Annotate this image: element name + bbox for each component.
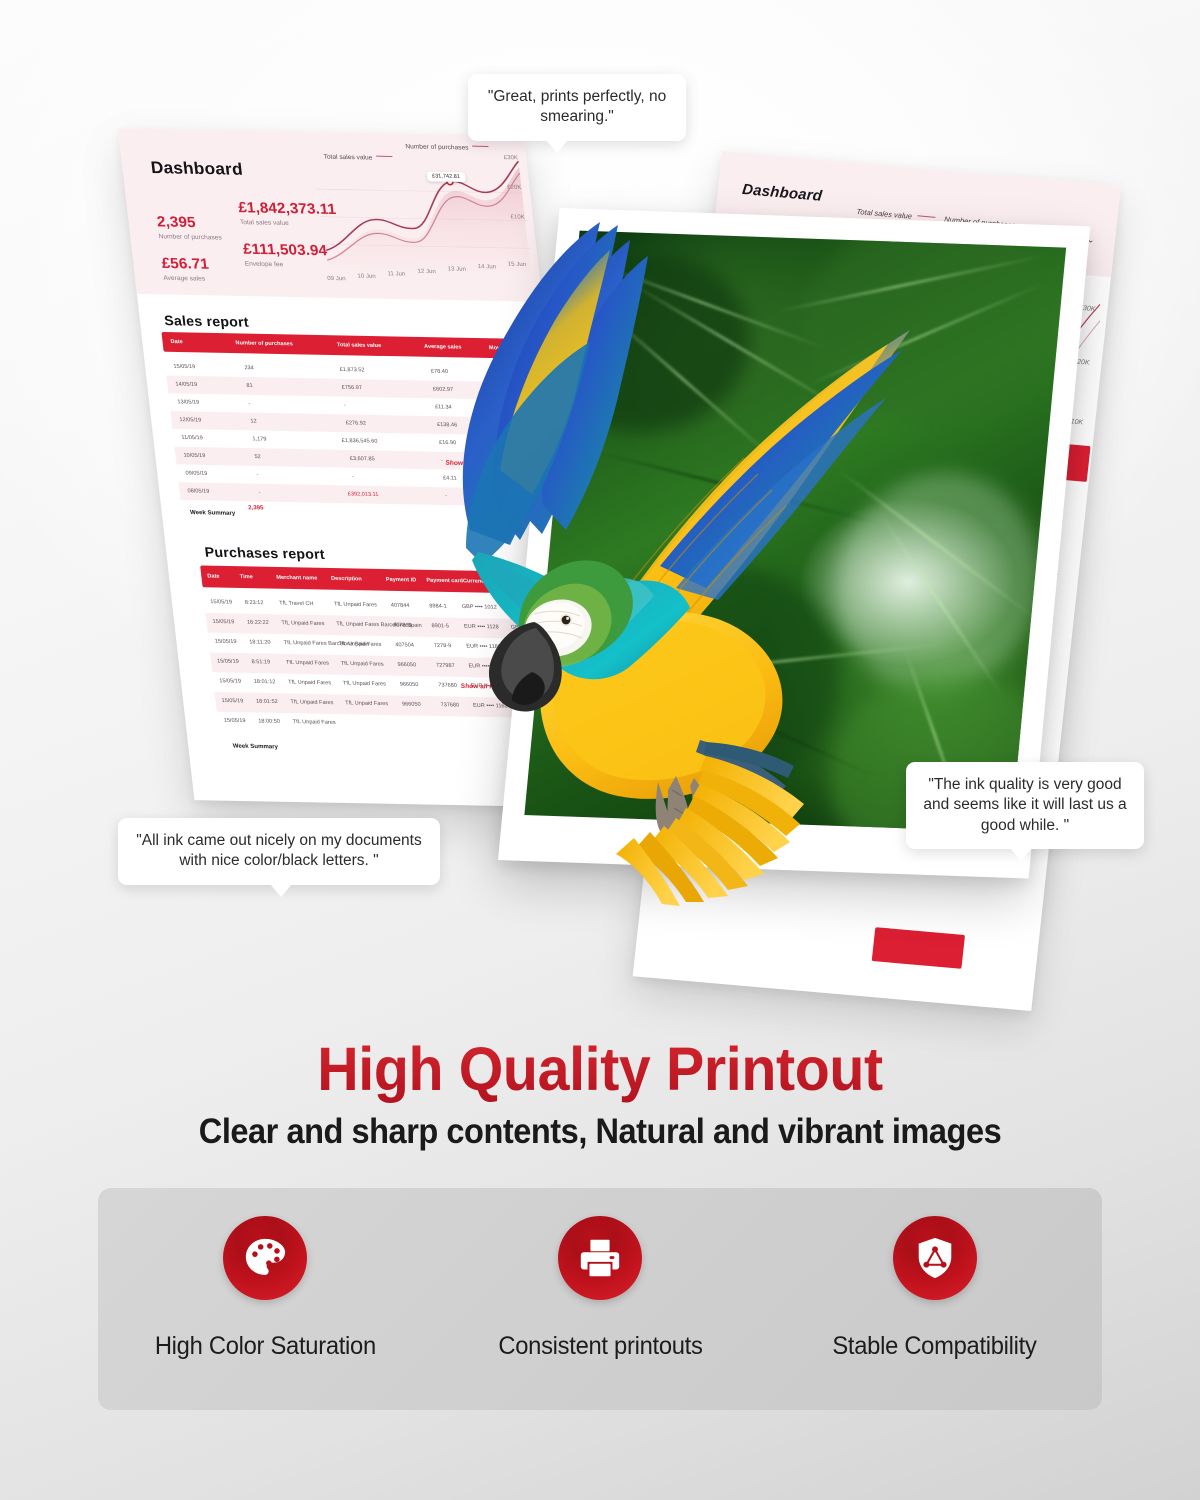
testimonial-text: "The ink quality is very good and seems …	[923, 776, 1126, 834]
feature-stable-compatibility: Stable Compatibility	[767, 1188, 1102, 1361]
printer-icon	[577, 1235, 623, 1281]
sales-col-average: Average sales	[424, 344, 462, 351]
kpi-number-of-purchases: 2,395 Number of purchases	[156, 214, 222, 242]
testimonial-bubble-left: "All ink came out nicely on my documents…	[118, 818, 440, 885]
purch-col-payment-card: Payment card	[426, 578, 463, 585]
shield-network-icon	[912, 1235, 958, 1281]
purch-col-merchant: Merchant name	[276, 575, 318, 582]
sales-week-summary-label: Week Summary	[190, 510, 236, 517]
purch-col-date: Date	[207, 573, 220, 579]
feature-bar: High Color Saturation Consistent printou…	[98, 1188, 1102, 1410]
purchases-report-title: Purchases report	[204, 544, 326, 562]
left-y-axis-30k: £30K	[504, 155, 519, 161]
left-x-tick-0: 09 Jun	[327, 276, 346, 282]
left-x-tick-5: 14 Jun	[477, 264, 496, 270]
palette-icon	[242, 1235, 288, 1281]
chart-tooltip: £31,742.81	[426, 171, 465, 182]
kpi-envelope-fee: £111,503.94 Envelope fee	[242, 241, 329, 269]
left-y-axis-20k: £20K	[507, 185, 522, 191]
left-x-tick-6: 15 Jun	[508, 262, 527, 268]
feature-high-color-saturation: High Color Saturation	[98, 1188, 433, 1361]
purchases-week-summary-label: Week Summary	[233, 744, 279, 751]
kpi-average-sales: £56.71 Average sales	[161, 255, 211, 283]
feature-consistent-printouts: Consistent printouts	[433, 1188, 768, 1361]
testimonial-bubble-right: "The ink quality is very good and seems …	[906, 762, 1144, 849]
bubble-tail	[546, 140, 568, 153]
sales-col-date: Date	[170, 339, 183, 345]
purch-col-currency: Currency code	[463, 578, 503, 585]
parrot-photo	[524, 231, 1066, 832]
left-x-tick-2: 11 Jun	[387, 271, 405, 277]
sales-week-summary-value: 2,395	[248, 505, 264, 511]
promo-image: Dashboard Total sales value Number of pu…	[0, 0, 1200, 1500]
purch-col-description: Description	[331, 576, 362, 583]
shield-network-icon-badge	[893, 1216, 977, 1300]
left-dashboard-header: Dashboard 2,395 Number of purchases £1,8…	[118, 128, 542, 302]
purch-col-payment-id: Payment ID	[386, 577, 417, 584]
hero-composition: Dashboard Total sales value Number of pu…	[0, 0, 1200, 1020]
left-sales-chart	[309, 155, 538, 284]
left-dashboard-title: Dashboard	[150, 158, 244, 180]
page-title: High Quality Printout	[36, 1034, 1164, 1104]
feature-label: Consistent printouts	[498, 1332, 702, 1361]
sales-col-fee: Moving fee	[489, 345, 519, 351]
testimonial-bubble-top: "Great, prints perfectly, no smearing."	[468, 74, 686, 141]
page-subtitle: Clear and sharp contents, Natural and vi…	[42, 1112, 1158, 1152]
purch-col-amount: Amount	[501, 579, 523, 585]
left-x-tick-1: 10 Jun	[357, 274, 376, 280]
testimonial-text: "All ink came out nicely on my documents…	[136, 832, 422, 869]
bubble-tail	[270, 884, 292, 897]
right-table-header-block	[872, 927, 965, 969]
palette-icon-badge	[223, 1216, 307, 1300]
bubble-tail	[1010, 848, 1032, 861]
purchases-report-header-row: Date Time Merchant name Description Paym…	[200, 565, 572, 594]
sales-report-header-row: Date Number of purchases Total sales val…	[161, 332, 536, 359]
left-y-axis-10k: £10K	[510, 214, 525, 220]
sales-col-purchases: Number of purchases	[235, 340, 293, 347]
feature-label: High Color Saturation	[155, 1332, 376, 1361]
left-legend-purchases: Number of purchases	[405, 143, 489, 152]
sales-report-title: Sales report	[163, 312, 249, 329]
left-x-tick-4: 13 Jun	[447, 266, 466, 272]
show-all-sales-report-link[interactable]: Show all Sales report	[445, 460, 512, 468]
left-x-tick-3: 12 Jun	[417, 269, 436, 275]
purch-col-time: Time	[240, 574, 254, 580]
printer-icon-badge	[558, 1216, 642, 1300]
testimonial-text: "Great, prints perfectly, no smearing."	[488, 88, 666, 125]
sales-col-total: Total sales value	[337, 342, 382, 349]
feature-label: Stable Compatibility	[833, 1332, 1037, 1361]
